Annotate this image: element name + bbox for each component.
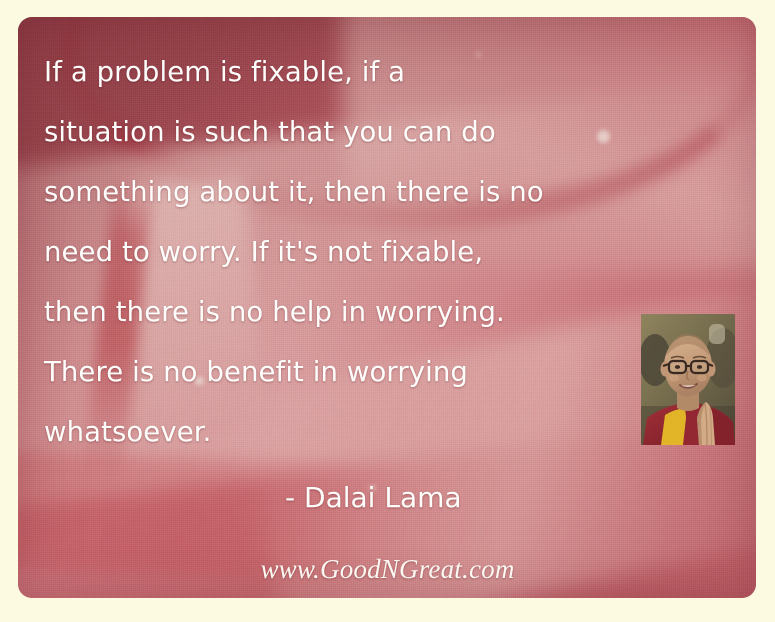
quote-attribution: - Dalai Lama — [285, 481, 462, 515]
quote-line: need to worry. If it's not fixable, — [44, 222, 644, 282]
quote-line: situation is such that you can do — [44, 102, 644, 162]
site-url-footer: www.GoodNGreat.com — [0, 554, 775, 585]
portrait-photo — [641, 314, 735, 445]
text-layer: If a problem is fixable, if a situation … — [0, 0, 775, 622]
quote-line: There is no benefit in worrying — [44, 342, 644, 402]
quote-line: then there is no help in worrying. — [44, 282, 644, 342]
quote-text: If a problem is fixable, if a situation … — [44, 42, 644, 462]
quote-line: something about it, then there is no — [44, 162, 644, 222]
quote-card: If a problem is fixable, if a situation … — [0, 0, 775, 622]
quote-line: If a problem is fixable, if a — [44, 42, 644, 102]
dalai-lama-portrait-illustration — [641, 314, 735, 445]
quote-line: whatsoever. — [44, 402, 644, 462]
